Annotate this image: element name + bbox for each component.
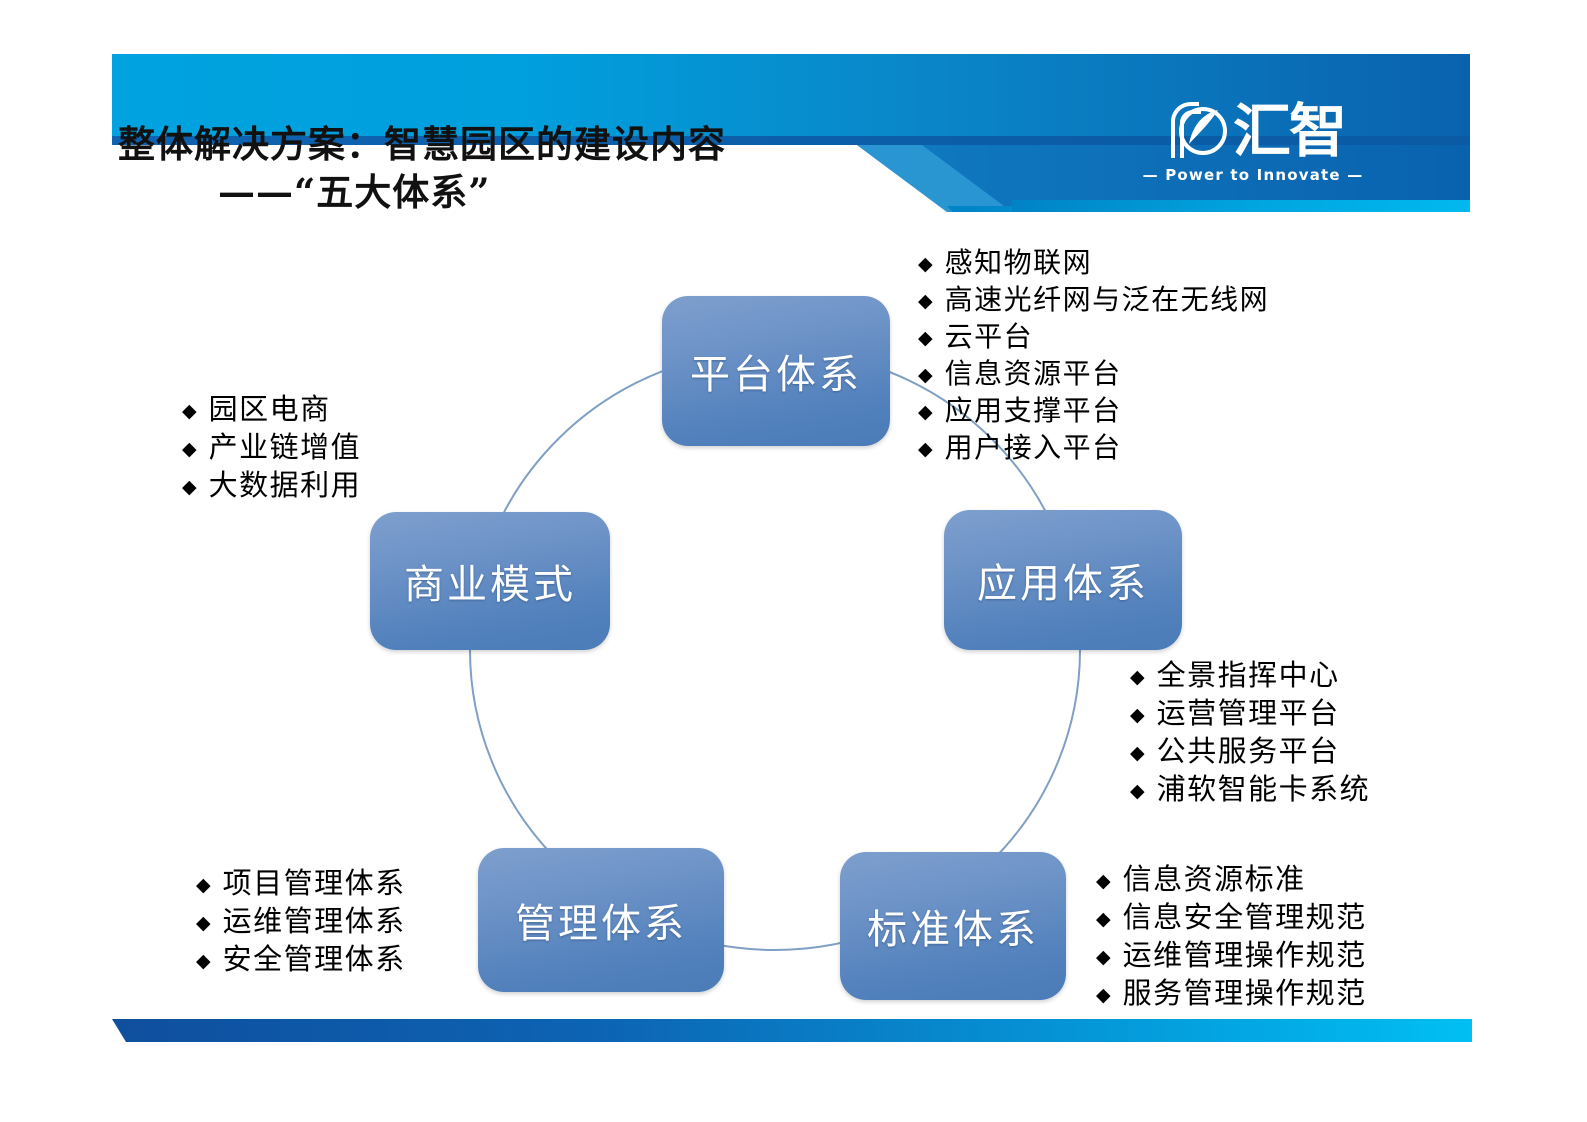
logo-mark: 汇智 xyxy=(1161,100,1345,162)
node-standard[interactable]: 标准体系 xyxy=(840,852,1066,1000)
list-item: ◆公共服务平台 xyxy=(1130,732,1370,770)
list-item-label: 信息资源标准 xyxy=(1123,860,1306,898)
diamond-bullet-icon: ◆ xyxy=(1130,668,1145,687)
list-item-label: 公共服务平台 xyxy=(1157,732,1340,770)
logo-tagline: — Power to Innovate — xyxy=(1143,166,1364,184)
diamond-bullet-icon: ◆ xyxy=(918,366,933,385)
page-title-line2: ——“五大体系” xyxy=(118,168,1018,216)
list-item: ◆高速光纤网与泛在无线网 xyxy=(918,281,1269,318)
list-item-label: 服务管理操作规范 xyxy=(1123,974,1367,1012)
list-item-label: 大数据利用 xyxy=(209,466,362,504)
diamond-bullet-icon: ◆ xyxy=(918,329,933,348)
list-item-label: 应用支撑平台 xyxy=(945,392,1122,429)
list-item-label: 云平台 xyxy=(945,318,1034,355)
diamond-bullet-icon: ◆ xyxy=(1130,744,1145,763)
list-item: ◆用户接入平台 xyxy=(918,429,1269,466)
list-item: ◆感知物联网 xyxy=(918,244,1269,281)
list-item-label: 全景指挥中心 xyxy=(1157,656,1340,694)
footer-bar xyxy=(112,1016,1472,1050)
node-management-label: 管理体系 xyxy=(515,891,687,949)
node-business[interactable]: 商业模式 xyxy=(370,512,610,650)
list-item: ◆项目管理体系 xyxy=(196,864,406,902)
list-item: ◆运维管理操作规范 xyxy=(1096,936,1367,974)
list-item-label: 浦软智能卡系统 xyxy=(1157,770,1371,808)
diamond-bullet-icon: ◆ xyxy=(1096,948,1111,967)
diamond-bullet-icon: ◆ xyxy=(918,440,933,459)
bullet-list-application: ◆全景指挥中心◆运营管理平台◆公共服务平台◆浦软智能卡系统 xyxy=(1130,656,1370,808)
logo-emblem-icon xyxy=(1161,100,1227,162)
list-item-label: 信息安全管理规范 xyxy=(1123,898,1367,936)
diamond-bullet-icon: ◆ xyxy=(182,402,197,421)
list-item: ◆信息资源平台 xyxy=(918,355,1269,392)
list-item-label: 感知物联网 xyxy=(945,244,1093,281)
list-item: ◆云平台 xyxy=(918,318,1269,355)
list-item: ◆运营管理平台 xyxy=(1130,694,1370,732)
list-item: ◆运维管理体系 xyxy=(196,902,406,940)
list-item-label: 运维管理操作规范 xyxy=(1123,936,1367,974)
diamond-bullet-icon: ◆ xyxy=(918,403,933,422)
diamond-bullet-icon: ◆ xyxy=(918,292,933,311)
list-item-label: 高速光纤网与泛在无线网 xyxy=(945,281,1270,318)
list-item: ◆产业链增值 xyxy=(182,428,361,466)
diamond-bullet-icon: ◆ xyxy=(918,255,933,274)
logo-wordmark: 汇智 xyxy=(1233,101,1345,161)
list-item: ◆应用支撑平台 xyxy=(918,392,1269,429)
page-title-line1: 整体解决方案：智慧园区的建设内容 xyxy=(118,120,1018,168)
bullet-list-standard: ◆信息资源标准◆信息安全管理规范◆运维管理操作规范◆服务管理操作规范 xyxy=(1096,860,1367,1012)
node-management[interactable]: 管理体系 xyxy=(478,848,724,992)
list-item: ◆全景指挥中心 xyxy=(1130,656,1370,694)
list-item-label: 项目管理体系 xyxy=(223,864,406,902)
company-logo: 汇智 — Power to Innovate — xyxy=(1118,92,1388,192)
node-application[interactable]: 应用体系 xyxy=(944,510,1182,650)
list-item-label: 安全管理体系 xyxy=(223,940,406,978)
list-item-label: 运营管理平台 xyxy=(1157,694,1340,732)
diamond-bullet-icon: ◆ xyxy=(182,478,197,497)
node-standard-label: 标准体系 xyxy=(867,897,1039,955)
bullet-list-platform: ◆感知物联网◆高速光纤网与泛在无线网◆云平台◆信息资源平台◆应用支撑平台◆用户接… xyxy=(918,244,1269,466)
list-item-label: 信息资源平台 xyxy=(945,355,1122,392)
footer-bar-shape xyxy=(112,1016,1472,1046)
diamond-bullet-icon: ◆ xyxy=(196,952,211,971)
node-application-label: 应用体系 xyxy=(977,551,1149,609)
node-platform[interactable]: 平台体系 xyxy=(662,296,890,446)
list-item-label: 运维管理体系 xyxy=(223,902,406,940)
diamond-bullet-icon: ◆ xyxy=(1096,986,1111,1005)
page-title: 整体解决方案：智慧园区的建设内容 ——“五大体系” xyxy=(118,120,1018,216)
bullet-list-management: ◆项目管理体系◆运维管理体系◆安全管理体系 xyxy=(196,864,406,978)
list-item-label: 产业链增值 xyxy=(209,428,362,466)
list-item: ◆浦软智能卡系统 xyxy=(1130,770,1370,808)
bullet-list-business: ◆园区电商◆产业链增值◆大数据利用 xyxy=(182,390,361,504)
slide-root: 整体解决方案：智慧园区的建设内容 ——“五大体系” 汇智 — Power to … xyxy=(0,0,1587,1122)
list-item: ◆信息资源标准 xyxy=(1096,860,1367,898)
node-business-label: 商业模式 xyxy=(404,552,576,610)
diamond-bullet-icon: ◆ xyxy=(182,440,197,459)
list-item: ◆信息安全管理规范 xyxy=(1096,898,1367,936)
diamond-bullet-icon: ◆ xyxy=(1096,872,1111,891)
diamond-bullet-icon: ◆ xyxy=(1130,706,1145,725)
diamond-bullet-icon: ◆ xyxy=(1130,782,1145,801)
node-platform-label: 平台体系 xyxy=(690,342,862,400)
diamond-bullet-icon: ◆ xyxy=(1096,910,1111,929)
list-item-label: 园区电商 xyxy=(209,390,331,428)
list-item: ◆安全管理体系 xyxy=(196,940,406,978)
list-item: ◆园区电商 xyxy=(182,390,361,428)
list-item: ◆服务管理操作规范 xyxy=(1096,974,1367,1012)
diamond-bullet-icon: ◆ xyxy=(196,914,211,933)
list-item-label: 用户接入平台 xyxy=(945,429,1122,466)
list-item: ◆大数据利用 xyxy=(182,466,361,504)
diamond-bullet-icon: ◆ xyxy=(196,876,211,895)
